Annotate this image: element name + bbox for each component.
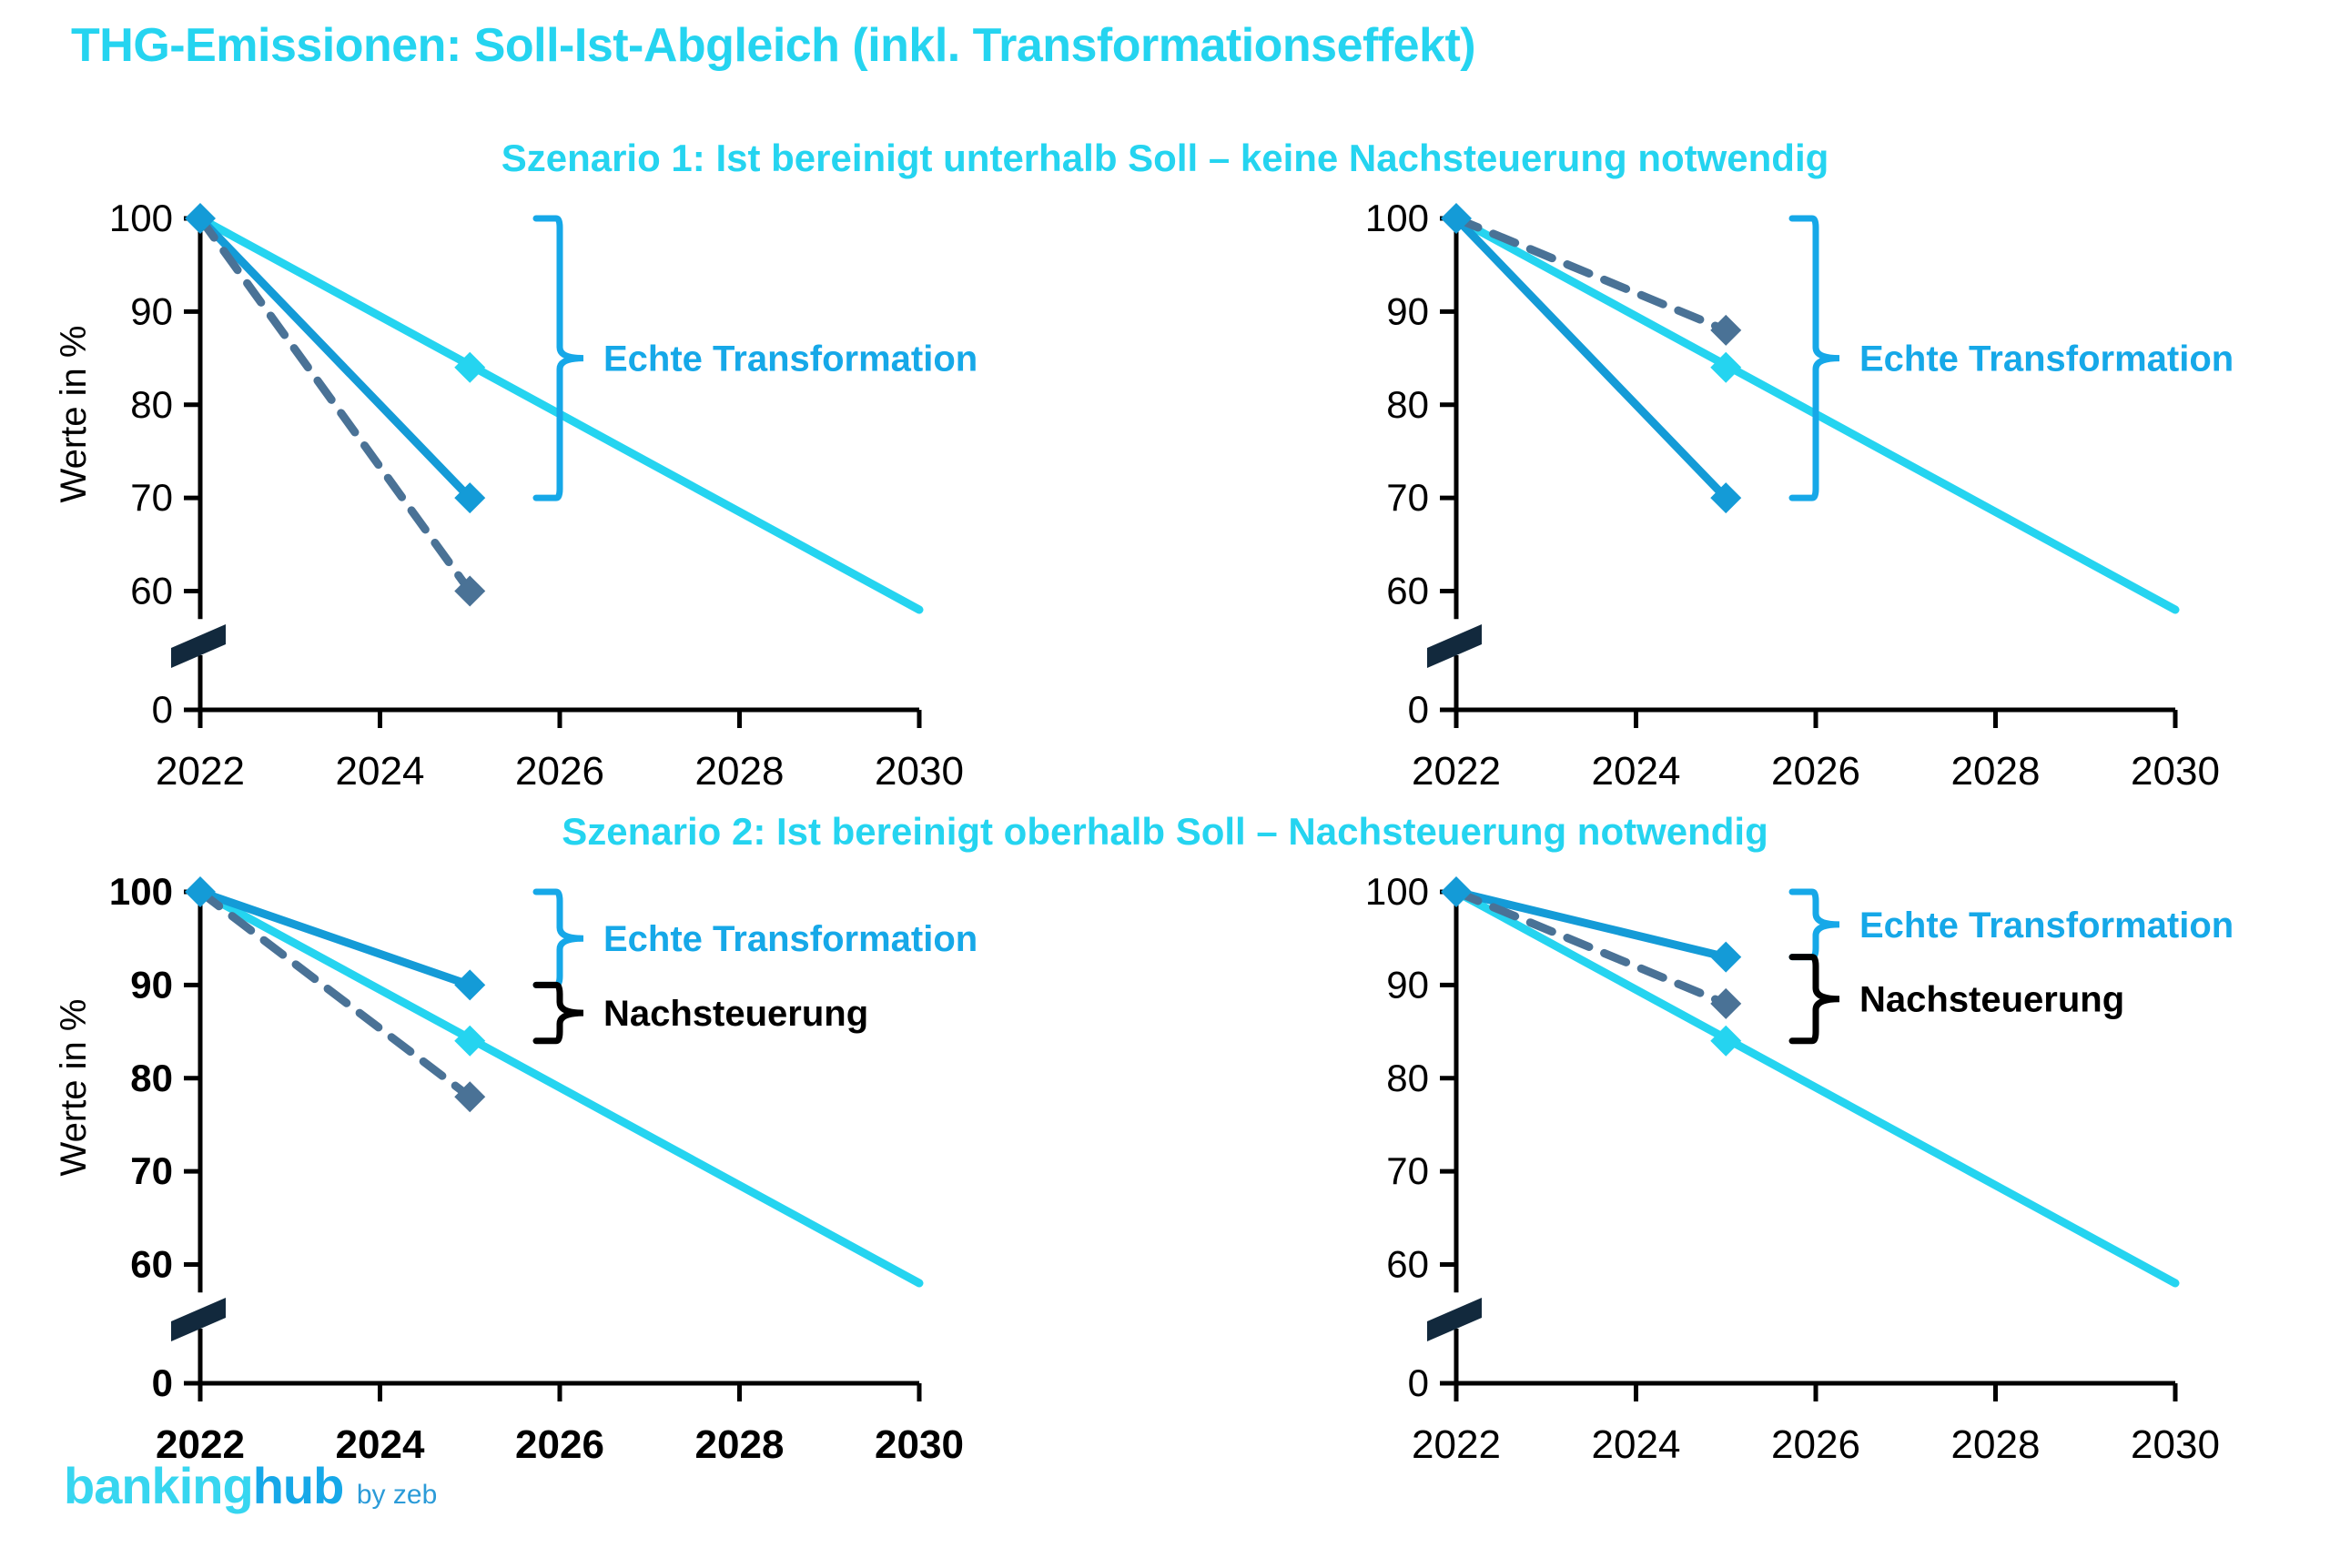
- x-tick-label: 2028: [1951, 749, 2041, 794]
- x-tick-label: 2022: [1412, 749, 1501, 794]
- x-tick-label: 2030: [2131, 749, 2220, 794]
- y-tick-label: 90: [130, 289, 173, 332]
- x-tick-label: 2026: [1771, 749, 1860, 794]
- brace-2: [536, 985, 583, 1040]
- y-tick-label: 100: [109, 197, 173, 239]
- y-tick-label: 100: [109, 870, 173, 913]
- data-marker: [454, 969, 485, 1000]
- x-tick-label: 2028: [1951, 1422, 2041, 1467]
- x-tick-label: 2022: [156, 749, 245, 794]
- brace-1: [1792, 218, 1839, 498]
- x-tick-label: 2030: [875, 1422, 964, 1467]
- logo-banking-text: banking: [64, 1457, 253, 1514]
- y-tick-label: 0: [152, 1361, 173, 1404]
- annotation-label: Nachsteuerung: [1859, 980, 2124, 1020]
- series-line-ist-bereinigt: [200, 892, 470, 985]
- bankinghub-logo: bankinghub by zeb: [64, 1456, 437, 1515]
- x-tick-label: 2030: [875, 749, 964, 794]
- brace-1: [536, 892, 583, 985]
- series-line-ist-bereinigt: [200, 218, 470, 498]
- x-tick-label: 2030: [2131, 1422, 2220, 1467]
- annotation-label: Echte Transformation: [603, 339, 978, 379]
- annotation-label: Nachsteuerung: [603, 994, 868, 1034]
- chart-scenario1-left: 10090807060020222024202620282030Werte in…: [55, 182, 1019, 819]
- y-tick-label: 60: [130, 570, 173, 612]
- y-tick-label: 60: [1386, 1243, 1429, 1286]
- x-tick-label: 2022: [1412, 1422, 1501, 1467]
- x-tick-label: 2024: [1592, 1422, 1681, 1467]
- scenario-1-title: Szenario 1: Ist bereinigt unterhalb Soll…: [0, 137, 2330, 180]
- chart-svg: 10090807060020222024202620282030Werte in…: [55, 182, 1019, 819]
- y-tick-label: 60: [130, 1243, 173, 1286]
- data-marker: [1441, 876, 1472, 907]
- y-tick-label: 90: [130, 963, 173, 1006]
- y-tick-label: 70: [1386, 1149, 1429, 1192]
- brace-2: [1792, 957, 1839, 1041]
- y-tick-label: 0: [1408, 688, 1429, 731]
- series-line-ist-gesamt: [200, 218, 470, 592]
- y-axis-title: Werte in %: [55, 326, 94, 503]
- annotation-label: Echte Transformation: [1859, 905, 2234, 946]
- chart-scenario2-left: 10090807060020222024202620282030Werte in…: [55, 855, 1019, 1492]
- page-title: THG-Emissionen: Soll-Ist-Abgleich (inkl.…: [71, 18, 1475, 73]
- y-axis-title: Werte in %: [55, 999, 94, 1177]
- y-tick-label: 100: [1365, 197, 1429, 239]
- chart-svg: 10090807060020222024202620282030Echte Tr…: [1311, 182, 2275, 819]
- chart-scenario1-right: 10090807060020222024202620282030Echte Tr…: [1311, 182, 2275, 819]
- chart-svg: 10090807060020222024202620282030Echte Tr…: [1311, 855, 2275, 1492]
- brace-1: [536, 218, 583, 498]
- y-tick-label: 90: [1386, 963, 1429, 1006]
- series-line-ist-gesamt: [1456, 218, 1726, 330]
- logo-hub-text: hub: [253, 1457, 344, 1514]
- y-tick-label: 70: [130, 476, 173, 519]
- y-tick-label: 70: [130, 1149, 173, 1192]
- brace-1: [1792, 892, 1839, 957]
- x-tick-label: 2028: [695, 749, 785, 794]
- chart-scenario2-right: 10090807060020222024202620282030Echte Tr…: [1311, 855, 2275, 1492]
- y-tick-label: 0: [1408, 1361, 1429, 1404]
- y-tick-label: 80: [130, 1057, 173, 1099]
- y-tick-label: 0: [152, 688, 173, 731]
- x-tick-label: 2026: [515, 749, 604, 794]
- y-tick-label: 90: [1386, 289, 1429, 332]
- x-tick-label: 2026: [1771, 1422, 1860, 1467]
- annotation-label: Echte Transformation: [1859, 339, 2234, 379]
- series-line-ist-bereinigt: [1456, 218, 1726, 498]
- x-tick-label: 2024: [336, 749, 425, 794]
- x-tick-label: 2024: [1592, 749, 1681, 794]
- x-tick-label: 2026: [515, 1422, 604, 1467]
- data-marker: [1710, 988, 1741, 1019]
- y-tick-label: 80: [1386, 383, 1429, 426]
- y-tick-label: 70: [1386, 476, 1429, 519]
- y-tick-label: 100: [1365, 870, 1429, 913]
- series-line-ist-gesamt: [200, 892, 470, 1097]
- chart-svg: 10090807060020222024202620282030Werte in…: [55, 855, 1019, 1492]
- data-marker: [1710, 315, 1741, 346]
- y-tick-label: 80: [130, 383, 173, 426]
- y-tick-label: 60: [1386, 570, 1429, 612]
- slide-canvas: THG-Emissionen: Soll-Ist-Abgleich (inkl.…: [0, 0, 2330, 1568]
- data-marker: [1710, 942, 1741, 973]
- annotation-label: Echte Transformation: [603, 919, 978, 959]
- logo-byzeb-text: by zeb: [357, 1480, 437, 1510]
- y-tick-label: 80: [1386, 1057, 1429, 1099]
- x-tick-label: 2028: [695, 1422, 785, 1467]
